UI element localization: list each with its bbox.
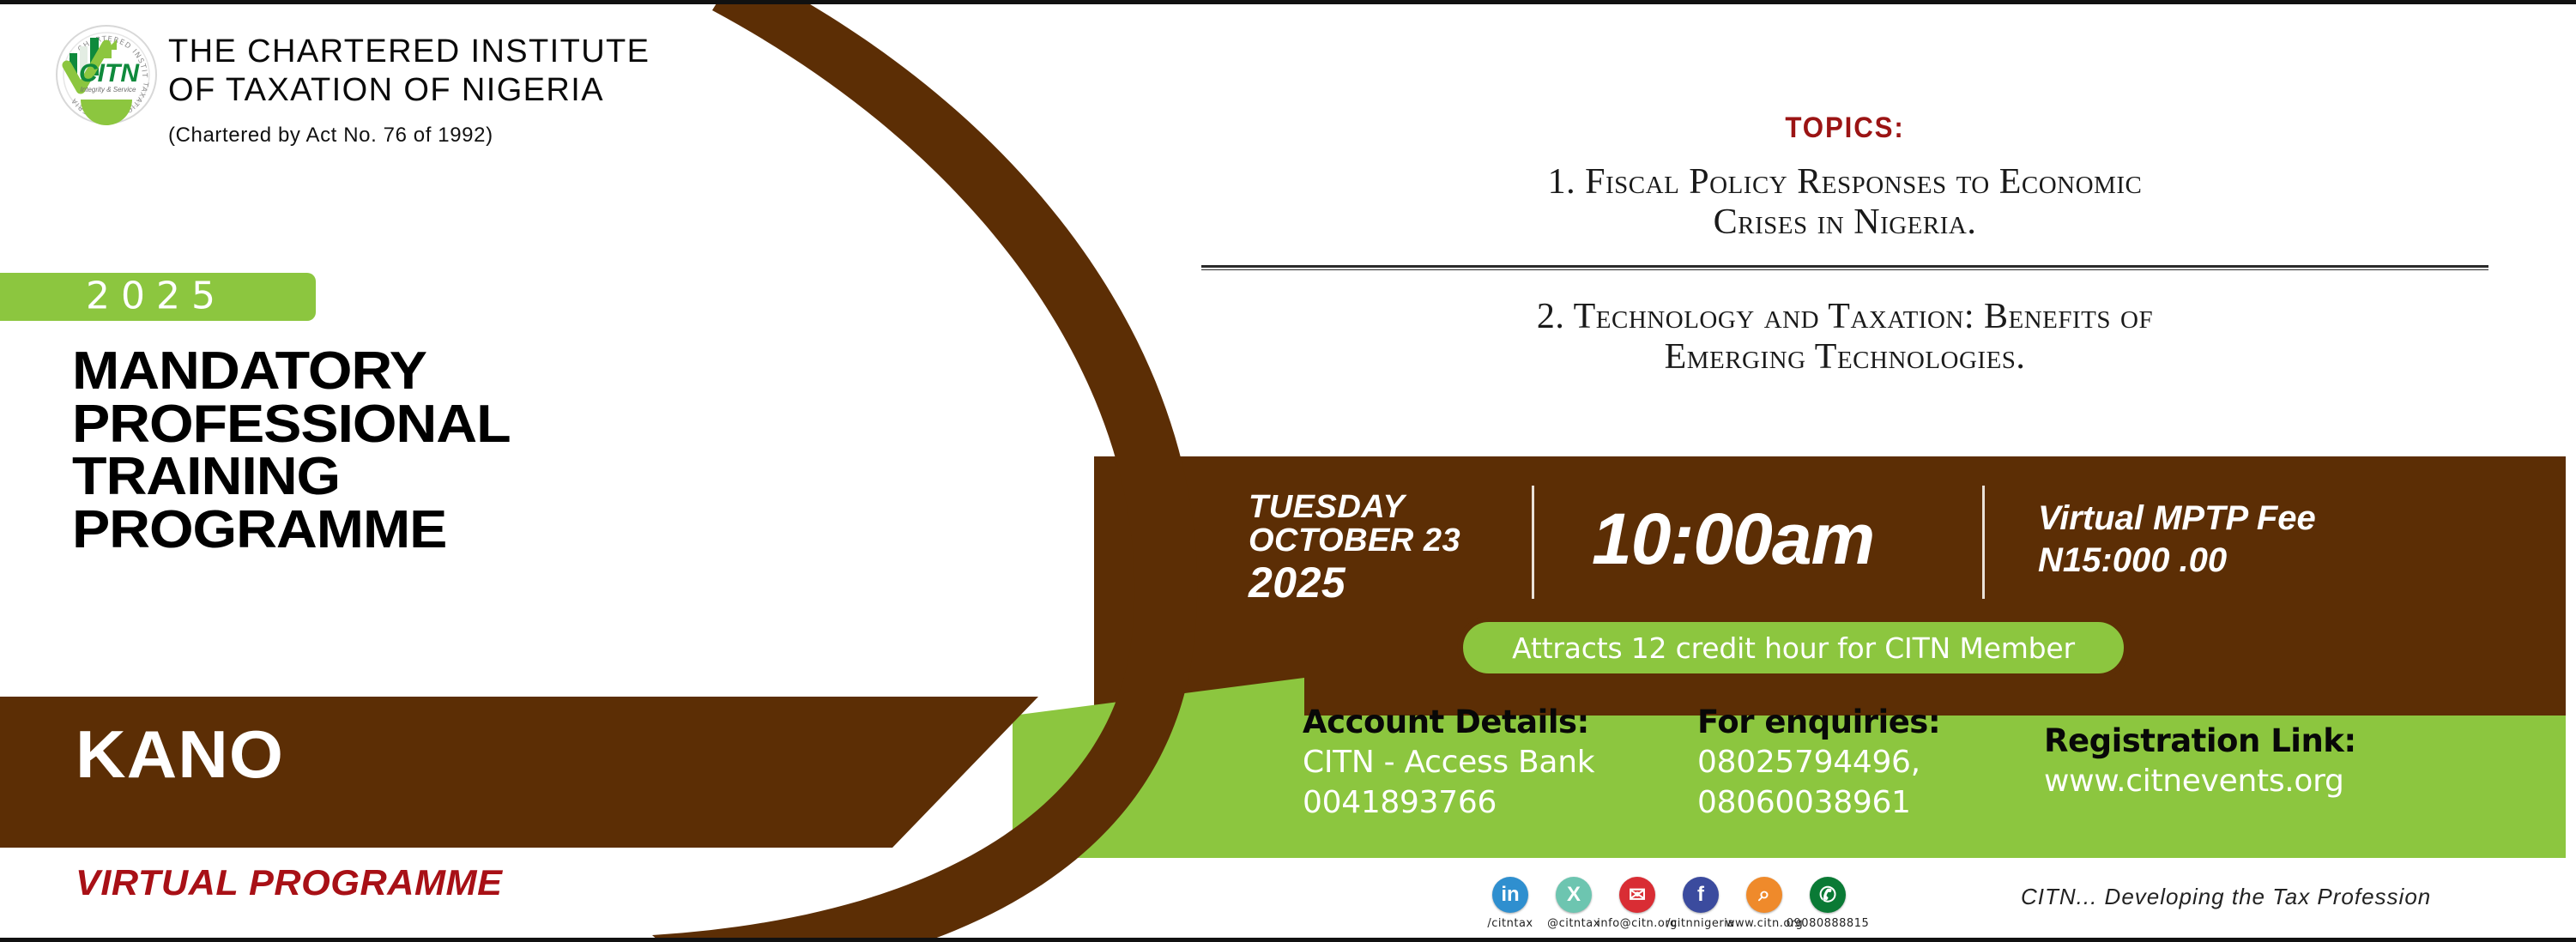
website-search-icon[interactable]: ⌕ bbox=[1746, 877, 1782, 913]
social-label: /citntax bbox=[1487, 917, 1533, 930]
year-badge: 2025 bbox=[0, 273, 316, 321]
account-bank: CITN - Access Bank bbox=[1303, 743, 1594, 783]
social-link-4[interactable]: ⌕www.citn.org bbox=[1745, 877, 1783, 930]
topics-heading: TOPICS: bbox=[1221, 112, 2469, 145]
topic-1-line-1: 1. Fiscal Policy Responses to Economic bbox=[1167, 162, 2523, 202]
event-fee: Virtual MPTP Fee N15:000 .00 bbox=[2038, 498, 2316, 582]
frame-line-bottom bbox=[0, 938, 2576, 942]
whatsapp-phone-icon[interactable]: ✆ bbox=[1810, 877, 1846, 913]
title-line-3: TRAINING bbox=[72, 456, 770, 498]
organisation-name: THE CHARTERED INSTITUTE OF TAXATION OF N… bbox=[168, 33, 700, 148]
topics-divider bbox=[1201, 265, 2488, 268]
mptp-flyer: THE CHARTERED INSTITUTE OF TAXATION OF N… bbox=[0, 0, 2576, 942]
fee-amount: N15:000 .00 bbox=[2038, 540, 2316, 582]
band-divider-2 bbox=[1982, 486, 1985, 599]
enquiries-details: For enquiries: 08025794496, 08060038961 bbox=[1697, 702, 1940, 824]
charter-note: (Chartered by Act No. 76 of 1992) bbox=[168, 124, 700, 148]
registration-heading: Registration Link: bbox=[2044, 721, 2356, 762]
event-date: TUESDAY OCTOBER 23 2025 bbox=[1249, 491, 1460, 605]
facebook-icon[interactable]: f bbox=[1683, 877, 1719, 913]
topic-item-1: 1. Fiscal Policy Responses to Economic C… bbox=[1167, 162, 2523, 243]
registration-details: Registration Link: www.citnevents.org bbox=[2044, 721, 2356, 802]
social-link-0[interactable]: in/citntax bbox=[1491, 877, 1529, 930]
topic-2-line-1: 2. Technology and Taxation: Benefits of bbox=[1167, 297, 2523, 337]
svg-text:CITN: CITN bbox=[79, 59, 140, 88]
org-line-2: OF TAXATION OF NIGERIA bbox=[168, 71, 700, 110]
social-link-5[interactable]: ✆09080888815 bbox=[1809, 877, 1847, 930]
org-line-1: THE CHARTERED INSTITUTE bbox=[168, 33, 700, 71]
event-date-text: OCTOBER 23 bbox=[1249, 524, 1460, 558]
footer-tagline: CITN... Developing the Tax Profession bbox=[2021, 884, 2431, 910]
social-label: info@citn.org bbox=[1597, 917, 1677, 930]
email-icon[interactable]: ✉ bbox=[1619, 877, 1655, 913]
programme-mode-label: VIRTUAL PROGRAMME bbox=[76, 865, 502, 901]
social-link-3[interactable]: f/citnnigeria bbox=[1682, 877, 1720, 930]
citn-seal-icon: THE CHARTERED INSTITUTE OF TAXATION OF N… bbox=[55, 24, 158, 125]
account-heading: Account Details: bbox=[1303, 702, 1594, 743]
topic-1-line-2: Crises in Nigeria. bbox=[1167, 202, 2523, 243]
social-label: /citnnigeria bbox=[1666, 917, 1735, 930]
credit-hour-badge: Attracts 12 credit hour for CITN Member bbox=[1457, 616, 2130, 679]
event-time: 10:00am bbox=[1592, 503, 1874, 575]
topic-item-2: 2. Technology and Taxation: Benefits of … bbox=[1167, 297, 2523, 377]
enquiries-heading: For enquiries: bbox=[1697, 702, 1940, 743]
social-label: 09080888815 bbox=[1787, 917, 1869, 930]
citn-logo: THE CHARTERED INSTITUTE OF TAXATION OF N… bbox=[55, 24, 158, 125]
svg-text:Integrity & Service: Integrity & Service bbox=[81, 86, 136, 94]
social-link-2[interactable]: ✉info@citn.org bbox=[1618, 877, 1656, 930]
page-title: MANDATORY PROFESSIONAL TRAINING PROGRAMM… bbox=[72, 350, 724, 551]
year-badge-label: 2025 bbox=[86, 274, 227, 317]
social-links: in/citntaxX@citntax✉info@citn.orgf/citnn… bbox=[1491, 877, 1847, 930]
topics-section: TOPICS: 1. Fiscal Policy Responses to Ec… bbox=[1167, 112, 2523, 377]
enquiries-phone-2[interactable]: 08060038961 bbox=[1697, 783, 1940, 824]
topic-2-line-2: Emerging Technologies. bbox=[1167, 337, 2523, 377]
credit-hour-label: Attracts 12 credit hour for CITN Member bbox=[1463, 622, 2124, 673]
title-line-1: MANDATORY bbox=[72, 350, 770, 393]
account-details: Account Details: CITN - Access Bank 0041… bbox=[1303, 702, 1594, 824]
x-twitter-icon[interactable]: X bbox=[1556, 877, 1592, 913]
frame-line-top bbox=[0, 0, 2576, 4]
social-link-1[interactable]: X@citntax bbox=[1555, 877, 1593, 930]
account-number: 0041893766 bbox=[1303, 783, 1594, 824]
event-day: TUESDAY bbox=[1249, 491, 1460, 524]
title-line-2: PROFESSIONAL bbox=[72, 403, 770, 446]
title-line-4: PROGRAMME bbox=[72, 509, 770, 552]
location-label: KANO bbox=[76, 721, 284, 788]
enquiries-phone-1[interactable]: 08025794496, bbox=[1697, 743, 1940, 783]
social-label: @citntax bbox=[1547, 917, 1600, 930]
fee-label: Virtual MPTP Fee bbox=[2038, 498, 2316, 540]
band-divider-1 bbox=[1532, 486, 1534, 599]
event-year: 2025 bbox=[1249, 561, 1460, 605]
registration-link[interactable]: www.citnevents.org bbox=[2044, 762, 2356, 802]
linkedin-icon[interactable]: in bbox=[1492, 877, 1528, 913]
